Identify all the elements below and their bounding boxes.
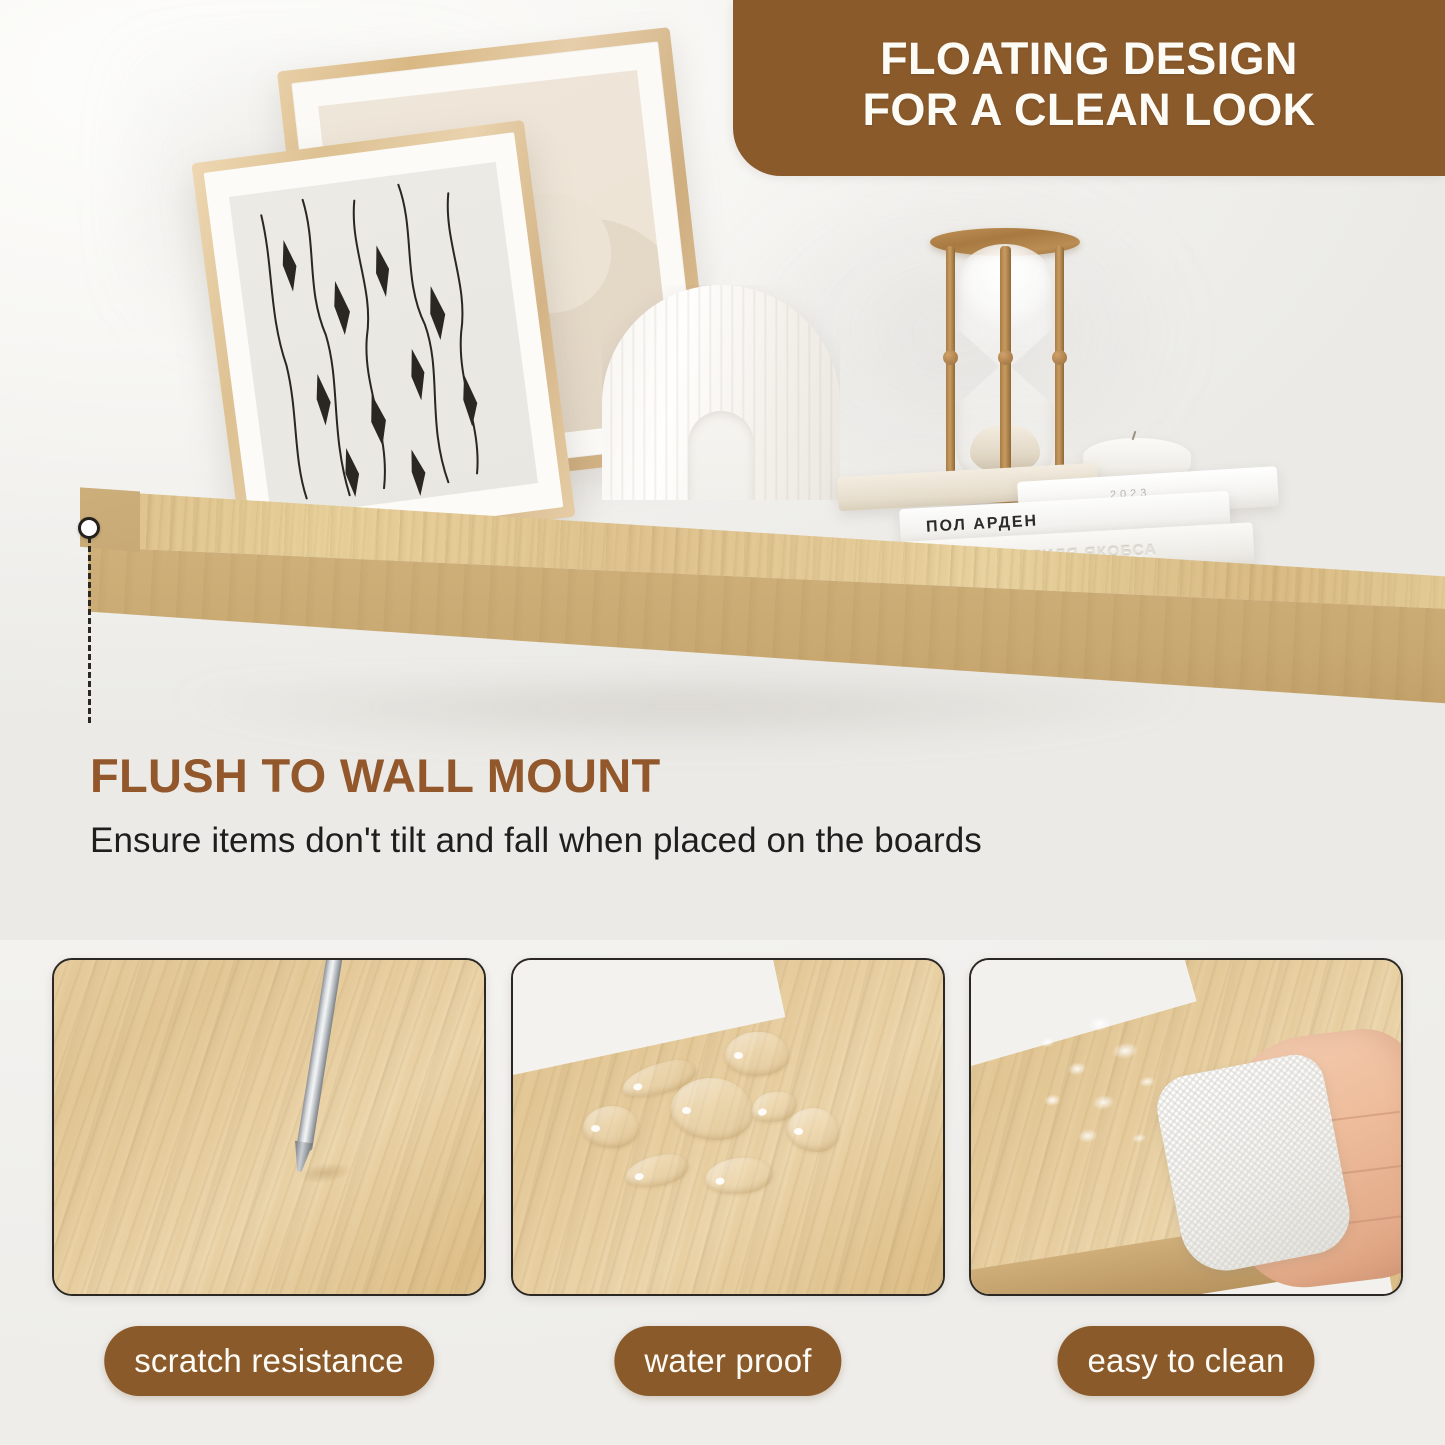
banner-line-1: FLOATING DESIGN bbox=[880, 34, 1298, 85]
water-droplet bbox=[725, 1032, 789, 1076]
flush-mount-callout-dot bbox=[78, 517, 100, 539]
water-droplet bbox=[671, 1078, 753, 1140]
hourglass-knob-left bbox=[943, 350, 958, 365]
floating-wood-shelf bbox=[80, 455, 1445, 725]
feature-card-scratch-resistance: scratch resistance bbox=[52, 958, 486, 1296]
feature-label-easy-to-clean: easy to clean bbox=[1057, 1326, 1314, 1396]
feature-card-easy-to-clean: easy to clean bbox=[969, 958, 1403, 1296]
floating-design-banner: FLOATING DESIGN FOR A CLEAN LOOK bbox=[733, 0, 1445, 176]
hourglass-post-left bbox=[946, 246, 955, 486]
banner-line-2: FOR A CLEAN LOOK bbox=[862, 85, 1315, 136]
feature-row: scratch resistance water proof bbox=[0, 958, 1445, 1445]
water-droplets-on-wood-photo bbox=[511, 958, 945, 1296]
hourglass-post-right bbox=[1055, 246, 1064, 486]
headline-title: FLUSH TO WALL MOUNT bbox=[90, 752, 982, 799]
hourglass-knob-right bbox=[1052, 350, 1067, 365]
headline-block: FLUSH TO WALL MOUNT Ensure items don't t… bbox=[90, 752, 982, 861]
product-feature-poster: 2023 ПОЛ АРДЕН УРОКИ СТИЛЯ ЯКОБСА FLOATI… bbox=[0, 0, 1445, 1445]
screwdriver-on-wood-photo bbox=[52, 958, 486, 1296]
callout-dashed-leader-line bbox=[88, 537, 91, 723]
feature-card-water-proof: water proof bbox=[511, 958, 945, 1296]
feature-label-scratch-resistance: scratch resistance bbox=[104, 1326, 434, 1396]
hourglass-post-center bbox=[1000, 246, 1011, 486]
water-droplet bbox=[583, 1106, 639, 1148]
feature-label-water-proof: water proof bbox=[614, 1326, 841, 1396]
wood-grain-texture bbox=[52, 958, 486, 1296]
headline-subtitle: Ensure items don't tilt and fall when pl… bbox=[90, 821, 982, 861]
hand-wiping-powder-off-wood-photo bbox=[969, 958, 1403, 1296]
hourglass-knob-center bbox=[998, 350, 1013, 365]
